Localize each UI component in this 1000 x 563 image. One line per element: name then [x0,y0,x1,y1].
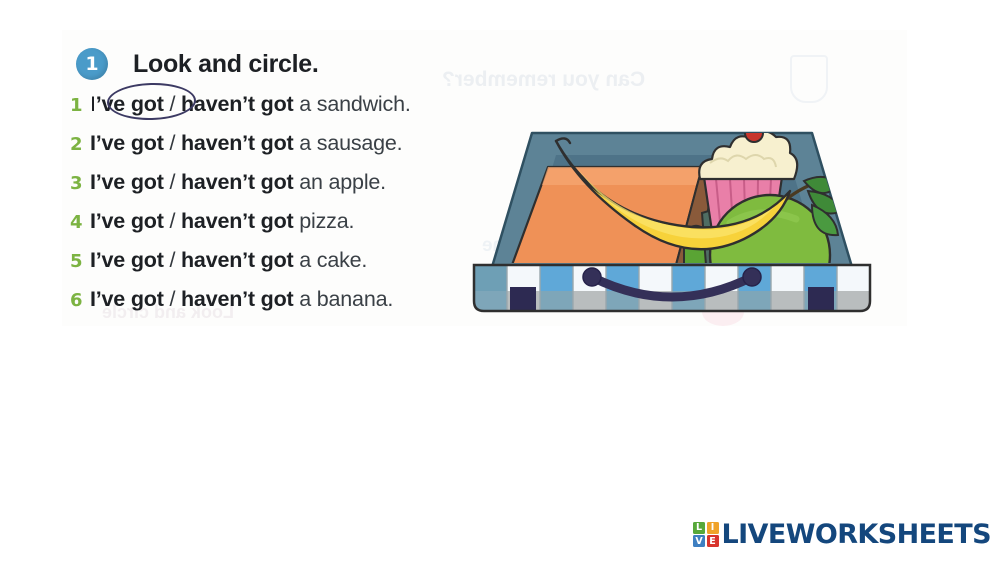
question-tail: a sandwich. [293,92,410,116]
question-row[interactable]: 6 I’ve got / haven’t got a banana. [70,287,490,326]
showthrough-shield-icon [790,55,828,103]
question-number: 2 [70,134,90,155]
question-row[interactable]: 4 I’ve got / haven’t got pizza. [70,209,490,248]
question-number: 6 [70,290,90,311]
answer-option-affirmative[interactable]: I’ve got [90,287,164,311]
answer-option-affirmative[interactable]: I’ve got [90,209,164,233]
answer-option-affirmative[interactable]: I’ve got [90,248,164,272]
answer-option-negative[interactable]: haven’t got [181,131,293,155]
option-separator: / [164,131,181,155]
showthrough-text-top: Can you remember? [442,68,645,92]
option-separator: / [164,248,181,272]
lunchbox-clasp-right [808,287,834,311]
page-title: Look and circle. [133,50,319,79]
lunchbox-front-band [474,265,870,311]
question-row[interactable]: 1 I’ve got / haven’t got a sandwich. [70,92,490,131]
question-text: I’ve got / haven’t got an apple. [90,170,386,195]
logo-tile-l: L [693,522,705,534]
question-number: 3 [70,173,90,194]
worksheet-scan-region: Can you remember? and the Look and circl… [62,30,907,326]
question-tail: a banana. [293,287,393,311]
question-row[interactable]: 3 I’ve got / haven’t got an apple. [70,170,490,209]
logo-tile-v: V [693,535,705,547]
option-separator: / [164,209,181,233]
option-separator: / [164,92,181,116]
liveworksheets-wordmark: LIVEWORKSHEETS [722,519,991,550]
question-tail: an apple. [293,170,385,194]
option-separator: / [164,287,181,311]
answer-option-affirmative[interactable]: ’ve got [96,92,164,116]
question-number: 4 [70,212,90,233]
question-tail: a cake. [293,248,367,272]
option-separator: / [164,170,181,194]
logo-tile-i: I [707,522,719,534]
exercise-header: 1 Look and circle. [76,48,319,80]
question-row[interactable]: 5 I’ve got / haven’t got a cake. [70,248,490,287]
liveworksheets-logo[interactable]: L I V E LIVEWORKSHEETS [693,519,991,550]
answer-option-affirmative[interactable]: I’ve got [90,131,164,155]
question-text: I’ve got / haven’t got pizza. [90,209,354,234]
question-text: I’ve got / haven’t got a cake. [90,248,367,273]
exercise-number-badge: 1 [76,48,108,80]
question-number: 5 [70,251,90,272]
answer-option-negative[interactable]: haven’t got [181,287,293,311]
question-list: 1 I’ve got / haven’t got a sandwich. 2 I… [70,92,490,326]
question-text: I’ve got / haven’t got a sausage. [90,131,402,156]
question-tail: pizza. [293,209,354,233]
answer-option-affirmative[interactable]: I’ve got [90,170,164,194]
answer-option-negative[interactable]: haven’t got [181,209,293,233]
question-row[interactable]: 2 I’ve got / haven’t got a sausage. [70,131,490,170]
answer-option-negative[interactable]: haven’t got [181,170,293,194]
question-number: 1 [70,95,90,116]
question-text: I’ve got / haven’t got a banana. [90,287,393,312]
question-tail: a sausage. [293,131,402,155]
liveworksheets-logo-mark: L I V E [693,522,719,548]
lunchbox-clasp-left [510,287,536,311]
question-text: I’ve got / haven’t got a sandwich. [90,92,411,117]
answer-option-negative[interactable]: haven’t got [181,248,293,272]
lunchbox-illustration [452,115,892,315]
answer-option-negative[interactable]: haven’t got [181,92,293,116]
logo-tile-e: E [707,535,719,547]
